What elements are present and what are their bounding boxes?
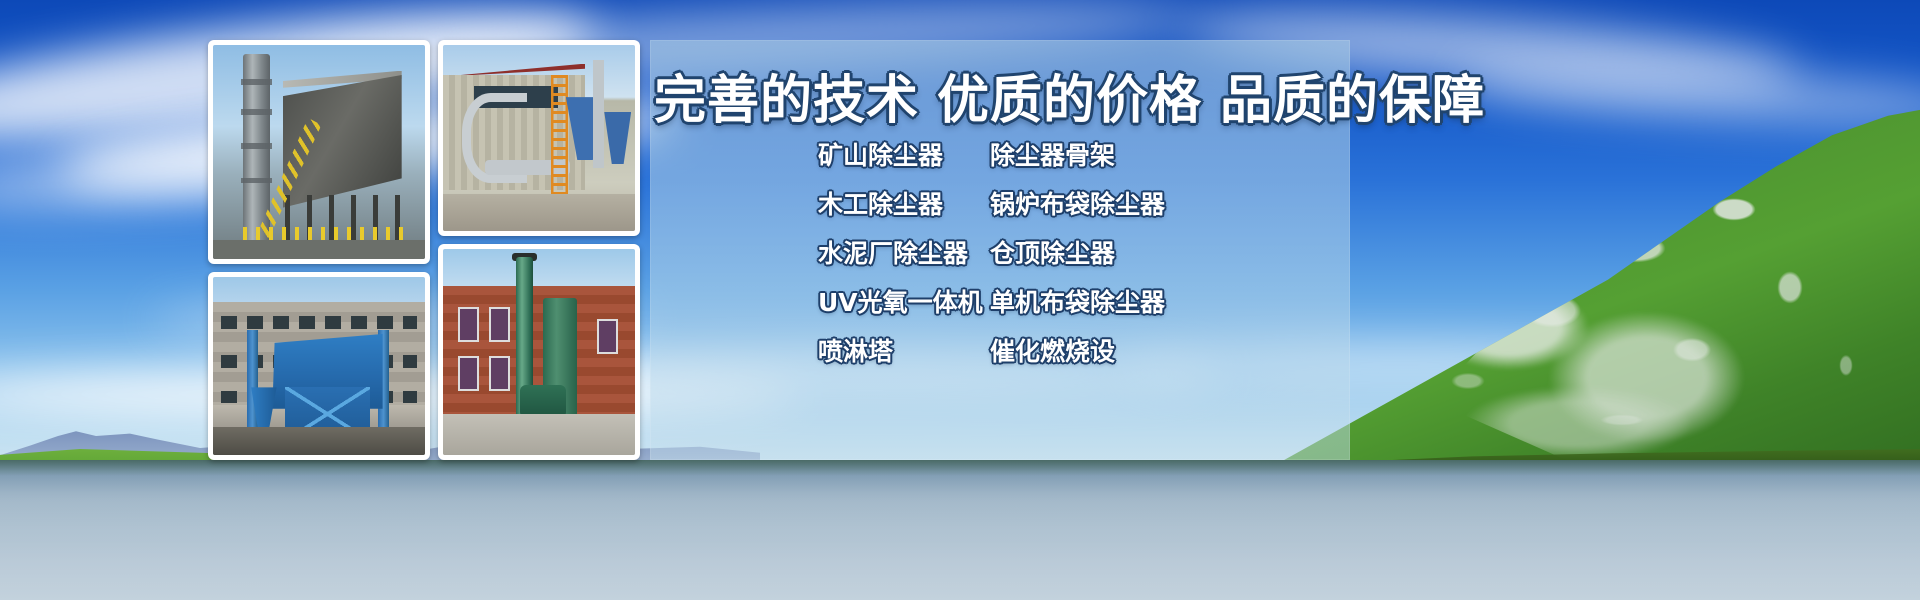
water-reflection [0,460,1920,600]
vertical-pipe [593,60,605,168]
ground-pavement [443,414,635,455]
product-photo-1[interactable] [208,40,430,264]
concrete-base [213,240,425,259]
product-name-right: 锅炉布袋除尘器 [990,185,1165,221]
product-row: 喷淋塔 催化燃烧设 [818,328,1338,372]
orange-ladder [551,75,568,198]
product-name-left: 木工除尘器 [818,185,990,221]
product-row: UV光氧一体机 单机布袋除尘器 [818,279,1338,323]
product-photo-3[interactable] [208,272,430,460]
stack-band [241,178,273,183]
blue-pulse-jet-baghouse-at-factory-image [213,277,425,455]
building-window [458,356,479,391]
headline-part-1: 完善的技术 [654,71,919,131]
product-row: 矿山除尘器 除尘器骨架 [818,132,1338,176]
window-row [221,316,416,328]
product-photo-4[interactable] [438,244,640,460]
grey-baghouse-dust-collector-with-stack-image [213,45,425,259]
headline-slogan: 完善的技术优质的价格品质的保障 [654,58,1354,133]
product-name-right: 催化燃烧设 [990,332,1115,368]
stack-band [241,79,273,84]
product-name-right: 除尘器骨架 [990,136,1115,172]
product-name-left: UV光氧一体机 [818,283,990,319]
building-window [458,307,479,342]
blue-hopper-secondary [604,112,631,164]
workshop-duct-and-blue-hopper-collector-image [443,45,635,231]
product-row: 水泥厂除尘器 仓顶除尘器 [818,230,1338,274]
product-photo-2[interactable] [438,40,640,236]
product-name-left: 水泥厂除尘器 [818,234,990,270]
green-scrubber-tower-at-brick-plant-image [443,249,635,455]
ground-pavement [443,194,635,231]
stack-band [241,143,273,148]
stack-band [241,109,273,114]
building-window [489,307,510,342]
product-list: 矿山除尘器 除尘器骨架 木工除尘器 锅炉布袋除尘器 水泥厂除尘器 仓顶除尘器 U… [818,132,1338,377]
blue-support-column [247,330,258,440]
promo-banner: 完善的技术优质的价格品质的保障 矿山除尘器 除尘器骨架 木工除尘器 锅炉布袋除尘… [0,0,1920,600]
headline-part-3: 品质的保障 [1220,71,1485,131]
ground-pavement [213,427,425,455]
headline-part-2: 优质的价格 [937,71,1202,131]
product-row: 木工除尘器 锅炉布袋除尘器 [818,181,1338,225]
product-photo-grid [208,40,640,460]
product-name-right: 单机布袋除尘器 [990,283,1165,319]
product-name-left: 矿山除尘器 [818,136,990,172]
product-name-left: 喷淋塔 [818,332,990,368]
product-name-right: 仓顶除尘器 [990,234,1115,270]
building-window [489,356,510,391]
building-window [597,319,618,354]
